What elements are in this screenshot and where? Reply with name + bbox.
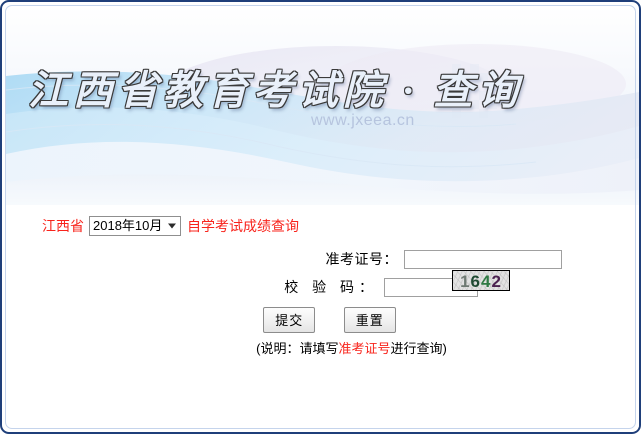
captcha-image[interactable]: 1642 xyxy=(452,270,510,291)
captcha-digit: 4 xyxy=(481,271,491,291)
reset-button[interactable]: 重置 xyxy=(344,307,396,333)
captcha-digit: 6 xyxy=(471,271,481,291)
note-highlight: 准考证号 xyxy=(338,341,390,356)
note-suffix: 进行查询) xyxy=(391,341,447,356)
ticket-number-input[interactable] xyxy=(404,250,562,269)
captcha-digit: 1 xyxy=(460,271,470,291)
captcha-digit: 2 xyxy=(491,271,501,291)
note-prefix: (说明：请填写 xyxy=(256,341,338,356)
form-buttons-row: 提交 重置 xyxy=(6,307,639,333)
submit-button[interactable]: 提交 xyxy=(263,307,315,333)
exam-title-label: 自学考试成绩查询 xyxy=(187,216,299,236)
province-label: 江西省 xyxy=(42,216,84,236)
form-title-row: 江西省 2018年10月 自学考试成绩查询 xyxy=(6,216,632,236)
query-form: 江西省 2018年10月 自学考试成绩查询 准考证号： 校 验 码： 提交 重置 xyxy=(6,205,639,432)
site-title: 江西省教育考试院 · 查询 xyxy=(28,58,523,116)
verify-code-row: 校 验 码： xyxy=(6,277,639,297)
form-note: (说明：请填写准考证号进行查询) xyxy=(6,338,639,357)
exam-term-select[interactable]: 2018年10月 xyxy=(89,216,181,236)
term-select-wrapper[interactable]: 2018年10月 xyxy=(89,216,181,236)
site-url: www.jxeea.cn xyxy=(311,112,415,130)
ticket-number-label: 准考证号： xyxy=(6,249,398,269)
page-container: 江西省教育考试院 · 查询 www.jxeea.cn 江西省 2018年10月 … xyxy=(0,0,641,434)
site-banner: 江西省教育考试院 · 查询 www.jxeea.cn xyxy=(6,6,639,205)
ticket-number-row: 准考证号： xyxy=(6,249,639,269)
verify-code-label: 校 验 码： xyxy=(6,277,378,297)
